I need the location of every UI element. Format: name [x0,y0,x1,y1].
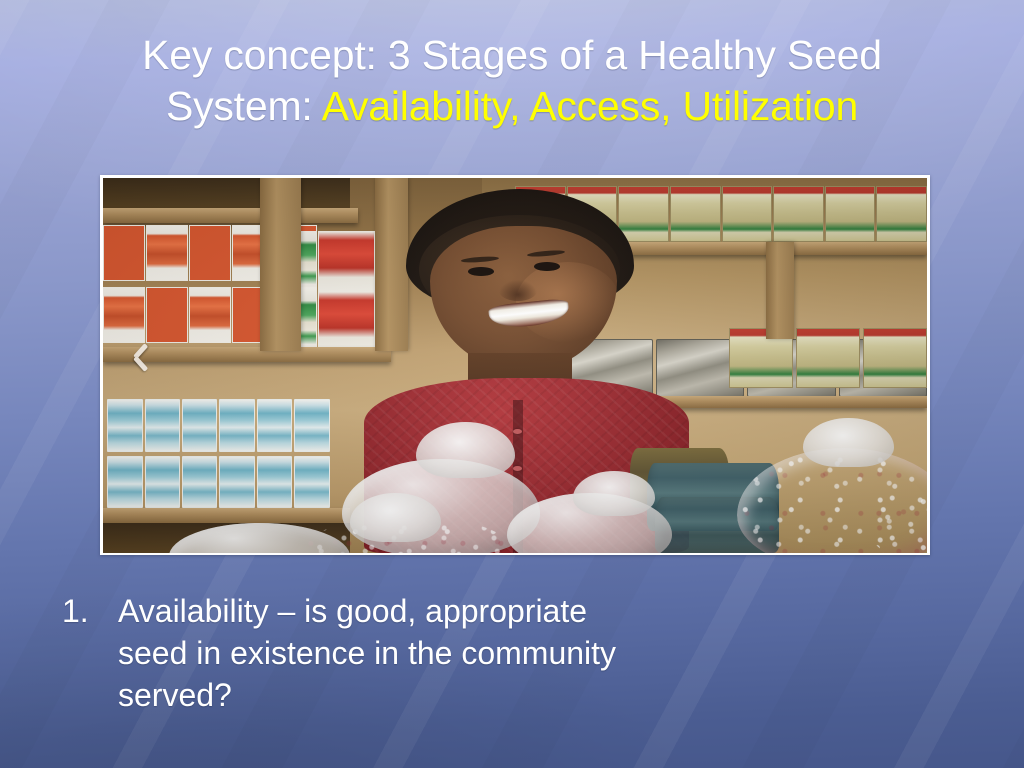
seed-packet [146,287,188,343]
packet-row-middle-right-2 [729,328,927,388]
title-line-2: System: Availability, Access, Utilizatio… [40,81,984,132]
seed-packet [257,399,292,452]
shelf-board [103,508,350,523]
shelf-post [260,178,301,351]
seed-packet [103,225,145,281]
seed-packet [103,287,145,343]
seed-packet [863,328,927,388]
seed-packet [219,399,254,452]
title-line-2-accent: Availability, Access, Utilization [322,83,859,129]
seed-packet [189,287,231,343]
bullet-number: 1. [62,590,118,632]
packet-row-blue-upper [107,399,329,452]
seed-packet [107,399,142,452]
seed-packet [189,225,231,281]
shelf-recess [103,178,350,212]
presentation-slide: Key concept: 3 Stages of a Healthy Seed … [0,0,1024,768]
title-line-1: Key concept: 3 Stages of a Healthy Seed [40,30,984,81]
blouse-button [513,466,522,471]
seed-packet [107,456,142,509]
seed-packet [145,399,180,452]
slide-photo-frame [100,175,930,555]
seed-packet [825,186,876,242]
eye-right [534,262,560,271]
seed-packet [145,456,180,509]
seed-packet [876,186,927,242]
list-item: 1. Availability – is good, appropriate s… [62,590,962,717]
seed-packet [722,186,773,242]
seed-packet [219,456,254,509]
title-line-2-prefix: System: [166,83,322,129]
bullet-text: Availability – is good, appropriate seed… [118,590,638,717]
chevron-left-icon[interactable] [133,347,159,373]
slide-title: Key concept: 3 Stages of a Healthy Seed … [40,30,984,132]
seed-packet [146,225,188,281]
seed-packet [294,399,329,452]
shelf-post [766,242,794,340]
bag-knot [350,493,441,542]
nose [499,280,537,300]
shelf-board [103,208,358,223]
seed-shop-photo [103,178,927,553]
seed-packet [182,399,217,452]
slide-body: 1. Availability – is good, appropriate s… [62,590,962,717]
seed-packet [773,186,824,242]
seed-packet [257,456,292,509]
seed-packet [294,456,329,509]
seed-packet [182,456,217,509]
seed-packet [796,328,860,388]
packet-row-blue-lower [107,456,329,509]
